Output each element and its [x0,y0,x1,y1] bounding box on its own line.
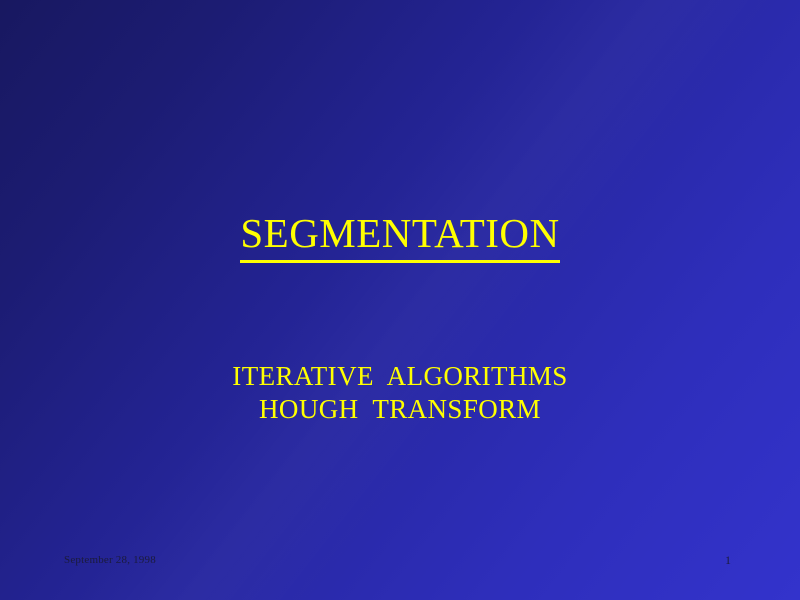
slide-title-block: SEGMENTATION [0,182,800,291]
footer-page-number: 1 [700,553,756,567]
page-title: SEGMENTATION [240,209,559,263]
footer-date: September 28, 1998 [64,553,156,567]
subtitle-line-1: ITERATIVE ALGORITHMS [0,360,800,393]
background-gradient-sheen [0,0,800,600]
subtitle-line-2: HOUGH TRANSFORM [0,393,800,426]
presentation-slide: SEGMENTATION ITERATIVE ALGORITHMS HOUGH … [0,0,800,600]
slide-subtitle-block: ITERATIVE ALGORITHMS HOUGH TRANSFORM [0,360,800,426]
